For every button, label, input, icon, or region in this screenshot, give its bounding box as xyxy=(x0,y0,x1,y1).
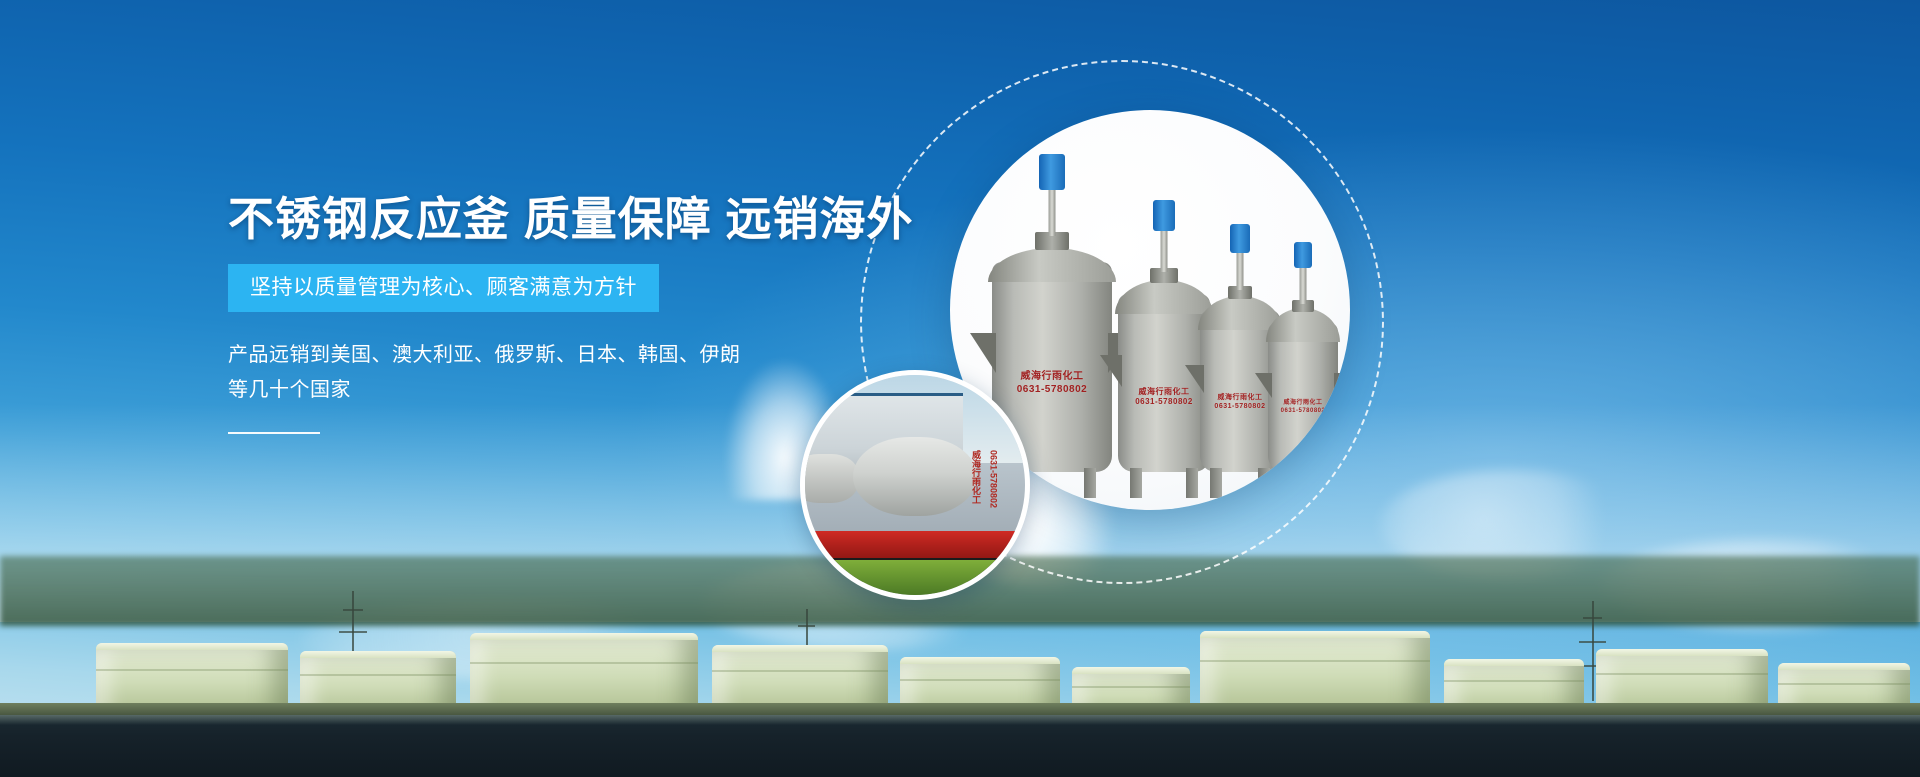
reactor-motor xyxy=(1294,242,1312,268)
inset-brand-text: 威海行雨化工 xyxy=(969,450,981,504)
inset-grass xyxy=(805,560,1025,595)
reactor-brand-text: 威海行雨化工 xyxy=(1139,387,1190,396)
reactor-support-fin xyxy=(1185,365,1204,393)
reactor-leg xyxy=(1130,468,1142,498)
reactor-vessel: 威海行雨化工 0631-5780802 xyxy=(1268,322,1338,472)
reactor-motor xyxy=(1153,200,1175,231)
reactor-support-fin xyxy=(1100,355,1122,387)
description-line-1: 产品远销到美国、澳大利亚、俄罗斯、日本、韩国、伊朗 xyxy=(228,338,928,373)
reactor-leg xyxy=(1276,468,1288,498)
reactor-brand-label: 威海行雨化工 0631-5780802 xyxy=(1268,400,1338,415)
reactor-leg xyxy=(1318,468,1330,498)
subtitle-badge: 坚持以质量管理为核心、顾客满意为方针 xyxy=(228,264,659,312)
reactor-leg xyxy=(1258,468,1270,498)
reactor-support-fin xyxy=(1255,373,1272,398)
flatbed-truck xyxy=(805,531,1025,560)
reactor-support-fin xyxy=(970,333,996,373)
reactor-phone-text: 0631-5780802 xyxy=(1281,408,1326,414)
reactor-phone-text: 0631-5780802 xyxy=(1017,384,1088,395)
reactor-leg xyxy=(1186,468,1198,498)
reactor-dome xyxy=(988,248,1115,282)
reactor-leg xyxy=(1084,468,1096,498)
banner-copy: 不锈钢反应釜 质量保障 远销海外 坚持以质量管理为核心、顾客满意为方针 产品远销… xyxy=(228,196,928,434)
description-line-2: 等几十个国家 xyxy=(228,373,928,408)
reactor-brand-text: 威海行雨化工 xyxy=(1021,371,1084,382)
description-block: 产品远销到美国、澳大利亚、俄罗斯、日本、韩国、伊朗 等几十个国家 xyxy=(228,338,928,408)
water-foreground xyxy=(0,715,1920,777)
divider-rule xyxy=(228,432,320,434)
inset-phone-text: 0631-5780802 xyxy=(989,450,999,508)
reactor-shaft xyxy=(1161,228,1168,272)
reactor-motor xyxy=(1230,224,1250,253)
reactor-leg xyxy=(1210,468,1222,498)
reactor-shaft xyxy=(1300,266,1307,304)
page-title: 不锈钢反应釜 质量保障 远销海外 xyxy=(228,196,928,242)
reactor-motor xyxy=(1039,154,1065,190)
product-artwork: 威海行雨化工 0631-5780802 威海行雨化工 0631-5780802 xyxy=(840,30,1480,590)
transport-vessel xyxy=(853,437,976,516)
hero-banner: 不锈钢反应釜 质量保障 远销海外 坚持以质量管理为核心、顾客满意为方针 产品远销… xyxy=(0,0,1920,777)
reactor-brand-text: 威海行雨化工 xyxy=(1283,400,1322,406)
reactor-phone-text: 0631-5780802 xyxy=(1214,403,1265,410)
reactor-shaft xyxy=(1237,250,1244,290)
reactor-shaft xyxy=(1049,186,1056,236)
reactor-dome xyxy=(1115,280,1213,314)
secondary-vessel xyxy=(800,454,858,502)
reactor-phone-text: 0631-5780802 xyxy=(1135,397,1193,406)
reactor-support-fin xyxy=(1334,373,1350,398)
